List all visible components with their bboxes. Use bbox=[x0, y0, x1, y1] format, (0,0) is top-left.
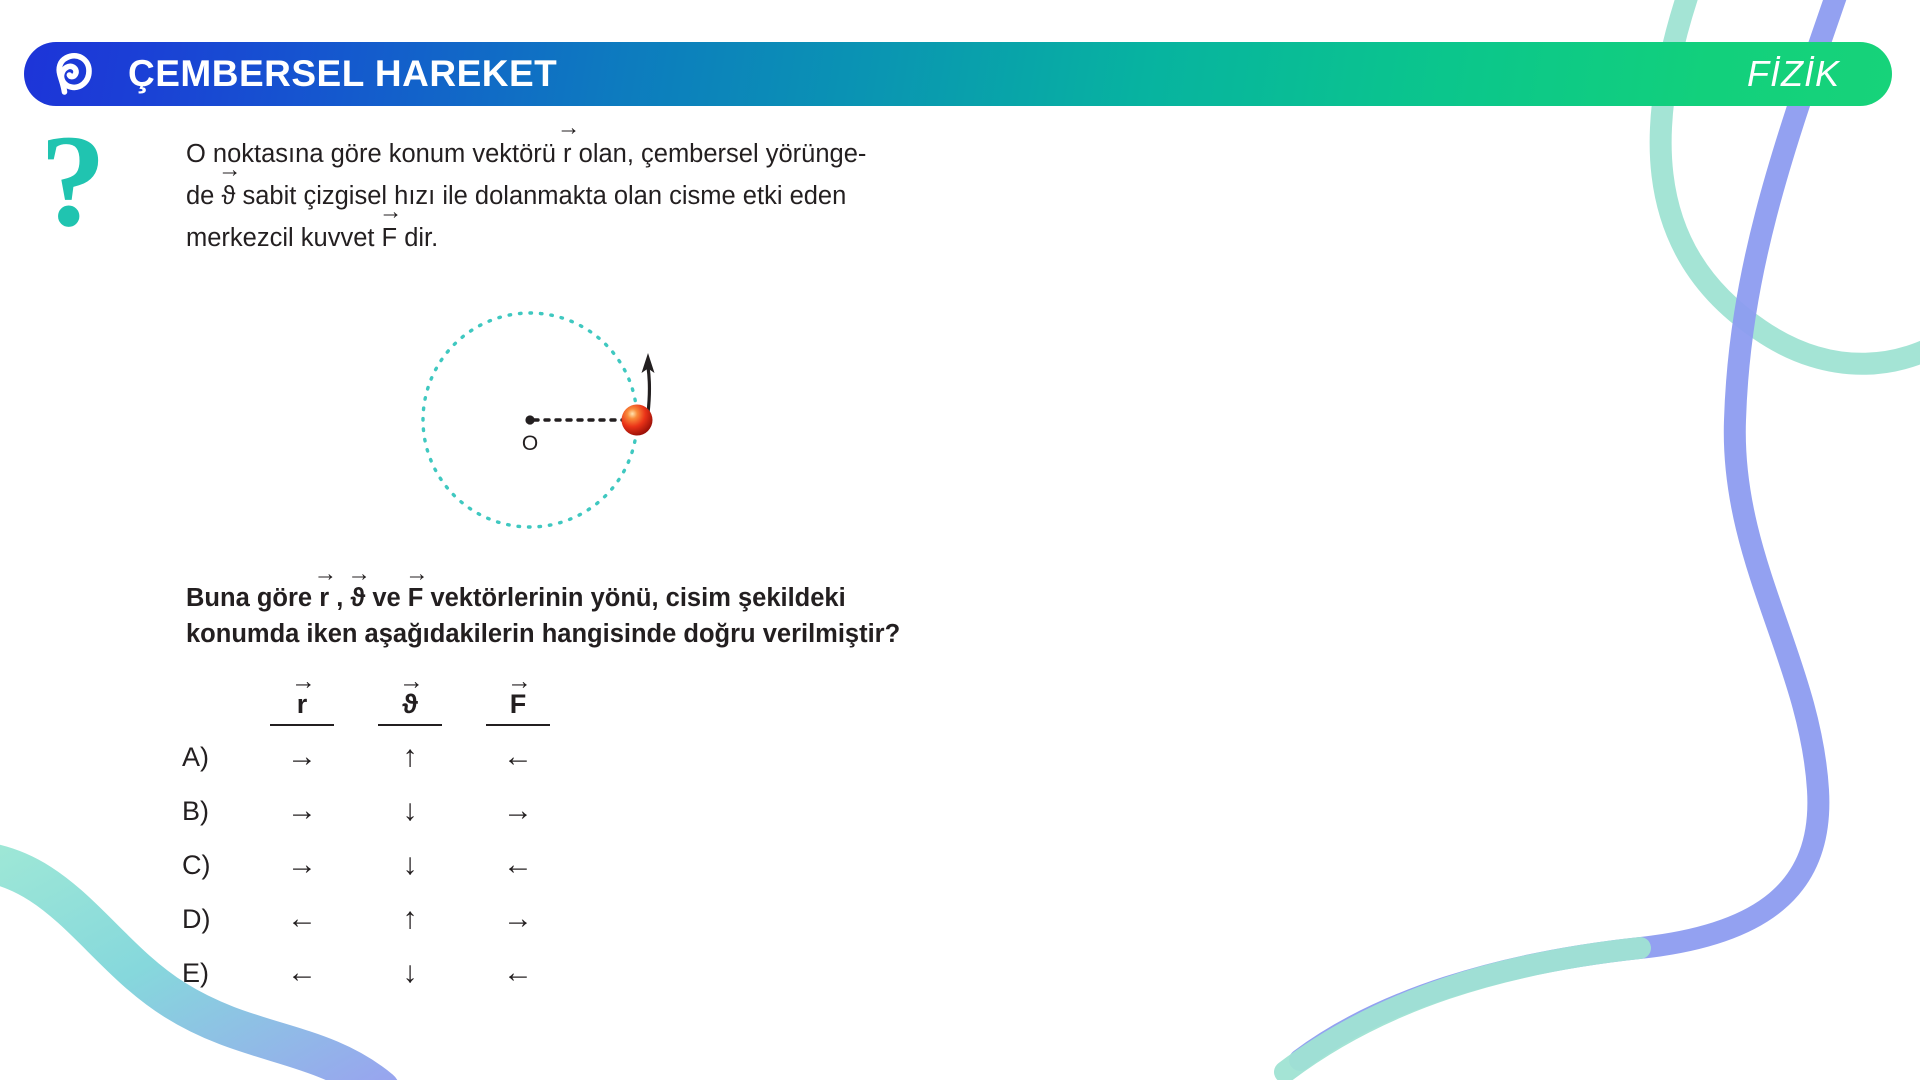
vector-arrow-icon: → bbox=[314, 562, 336, 585]
arrow-right-icon: → bbox=[503, 796, 533, 826]
vector-arrow-icon: → bbox=[557, 116, 579, 139]
option-d-f: → bbox=[464, 892, 572, 946]
swirl-mint-bottom-right bbox=[1285, 948, 1640, 1072]
column-header-v: →ϑ bbox=[356, 668, 464, 730]
vector-v-inline: →ϑ bbox=[221, 174, 235, 216]
intro-line1-text-b: olan, çembersel yörünge- bbox=[572, 140, 867, 168]
arrow-down-icon: ↓ bbox=[403, 958, 418, 988]
vector-r-inline: →r bbox=[563, 132, 572, 174]
intro-line2-text-a: de bbox=[186, 182, 221, 210]
prompt-suffix: vektörlerinin yönü, cisim şekildeki bbox=[423, 584, 845, 612]
option-letter-b[interactable]: B) bbox=[172, 784, 248, 838]
option-row-c[interactable]: C) → ↓ ← bbox=[172, 838, 572, 892]
vector-f-inline: →F bbox=[382, 216, 398, 258]
vector-arrow-icon: → bbox=[218, 158, 240, 181]
option-c-r: → bbox=[248, 838, 356, 892]
circular-motion-figure: O bbox=[400, 285, 700, 535]
vector-r-prompt: →r bbox=[319, 578, 329, 616]
option-letter-a[interactable]: A) bbox=[172, 730, 248, 784]
arrow-left-icon: ← bbox=[503, 958, 533, 988]
arrow-up-icon: ↑ bbox=[403, 742, 418, 772]
publisher-p-logo-icon bbox=[46, 48, 98, 100]
vector-arrow-icon: → bbox=[347, 562, 369, 585]
prompt-sep1: , bbox=[329, 584, 350, 612]
option-e-v: ↓ bbox=[356, 946, 464, 1000]
option-b-r: → bbox=[248, 784, 356, 838]
arrow-left-icon: ← bbox=[503, 742, 533, 772]
center-point-label: O bbox=[522, 432, 538, 455]
option-letter-d[interactable]: D) bbox=[172, 892, 248, 946]
subject-badge: FİZİK bbox=[1747, 53, 1840, 95]
moving-object-ball bbox=[622, 405, 653, 436]
question-prompt: Buna göre →r , →ϑ ve →F vektörlerinin yö… bbox=[186, 578, 976, 652]
lesson-header-bar: ÇEMBERSEL HAREKET FİZİK bbox=[24, 42, 1892, 106]
velocity-arrow-icon bbox=[648, 367, 650, 413]
vector-r-header: →r bbox=[297, 687, 308, 720]
option-d-r: ← bbox=[248, 892, 356, 946]
vector-arrow-icon: → bbox=[379, 200, 401, 223]
option-row-e[interactable]: E) ← ↓ ← bbox=[172, 946, 572, 1000]
option-letter-e[interactable]: E) bbox=[172, 946, 248, 1000]
vector-arrow-icon: → bbox=[291, 670, 314, 695]
intro-line2-text-b: sabit çizgisel hızı ile dolanmakta olan … bbox=[235, 182, 846, 210]
option-e-r: ← bbox=[248, 946, 356, 1000]
arrow-right-icon: → bbox=[287, 742, 317, 772]
column-header-f: →F bbox=[464, 668, 572, 730]
question-mark-decoration: ? bbox=[40, 115, 106, 247]
option-d-v: ↑ bbox=[356, 892, 464, 946]
option-b-v: ↓ bbox=[356, 784, 464, 838]
answer-options-table: →r →ϑ →F A) → ↑ ← B) → ↓ → C) → ↓ ← bbox=[172, 668, 572, 1000]
arrow-right-icon: → bbox=[287, 796, 317, 826]
page-title: ÇEMBERSEL HAREKET bbox=[128, 53, 557, 95]
option-letter-c[interactable]: C) bbox=[172, 838, 248, 892]
option-a-f: ← bbox=[464, 730, 572, 784]
arrow-left-icon: ← bbox=[287, 904, 317, 934]
arrow-right-icon: → bbox=[503, 904, 533, 934]
option-b-f: → bbox=[464, 784, 572, 838]
header-spacer bbox=[172, 668, 248, 730]
option-a-v: ↑ bbox=[356, 730, 464, 784]
vector-f-header: →F bbox=[510, 687, 527, 720]
column-header-r: →r bbox=[248, 668, 356, 730]
option-row-d[interactable]: D) ← ↑ → bbox=[172, 892, 572, 946]
intro-line3-text-a: merkezcil kuvvet bbox=[186, 224, 382, 252]
prompt-prefix: Buna göre bbox=[186, 584, 319, 612]
arrow-up-icon: ↑ bbox=[403, 904, 418, 934]
vector-arrow-icon: → bbox=[399, 670, 422, 695]
intro-line1-text-a: O noktasına göre konum vektörü bbox=[186, 140, 563, 168]
intro-paragraph: O noktasına göre konum vektörü →r olan, … bbox=[186, 132, 956, 258]
option-a-r: → bbox=[248, 730, 356, 784]
vector-v-prompt: →ϑ bbox=[350, 578, 365, 616]
vector-f-prompt: →F bbox=[408, 578, 424, 616]
vector-v-header: →ϑ bbox=[402, 687, 418, 720]
options-header-row: →r →ϑ →F bbox=[172, 668, 572, 730]
option-row-a[interactable]: A) → ↑ ← bbox=[172, 730, 572, 784]
arrow-left-icon: ← bbox=[503, 850, 533, 880]
option-c-v: ↓ bbox=[356, 838, 464, 892]
prompt-mid: ve bbox=[365, 584, 408, 612]
arrow-down-icon: ↓ bbox=[403, 796, 418, 826]
option-row-b[interactable]: B) → ↓ → bbox=[172, 784, 572, 838]
vector-arrow-icon: → bbox=[507, 670, 530, 695]
arrow-left-icon: ← bbox=[287, 958, 317, 988]
prompt-line2: konumda iken aşağıdakilerin hangisinde d… bbox=[186, 620, 900, 648]
intro-line3-text-b: dir. bbox=[397, 224, 438, 252]
arrow-right-icon: → bbox=[287, 850, 317, 880]
option-e-f: ← bbox=[464, 946, 572, 1000]
arrow-down-icon: ↓ bbox=[403, 850, 418, 880]
swirl-blue-right bbox=[1300, 0, 1845, 1060]
option-c-f: ← bbox=[464, 838, 572, 892]
vector-arrow-icon: → bbox=[405, 562, 427, 585]
